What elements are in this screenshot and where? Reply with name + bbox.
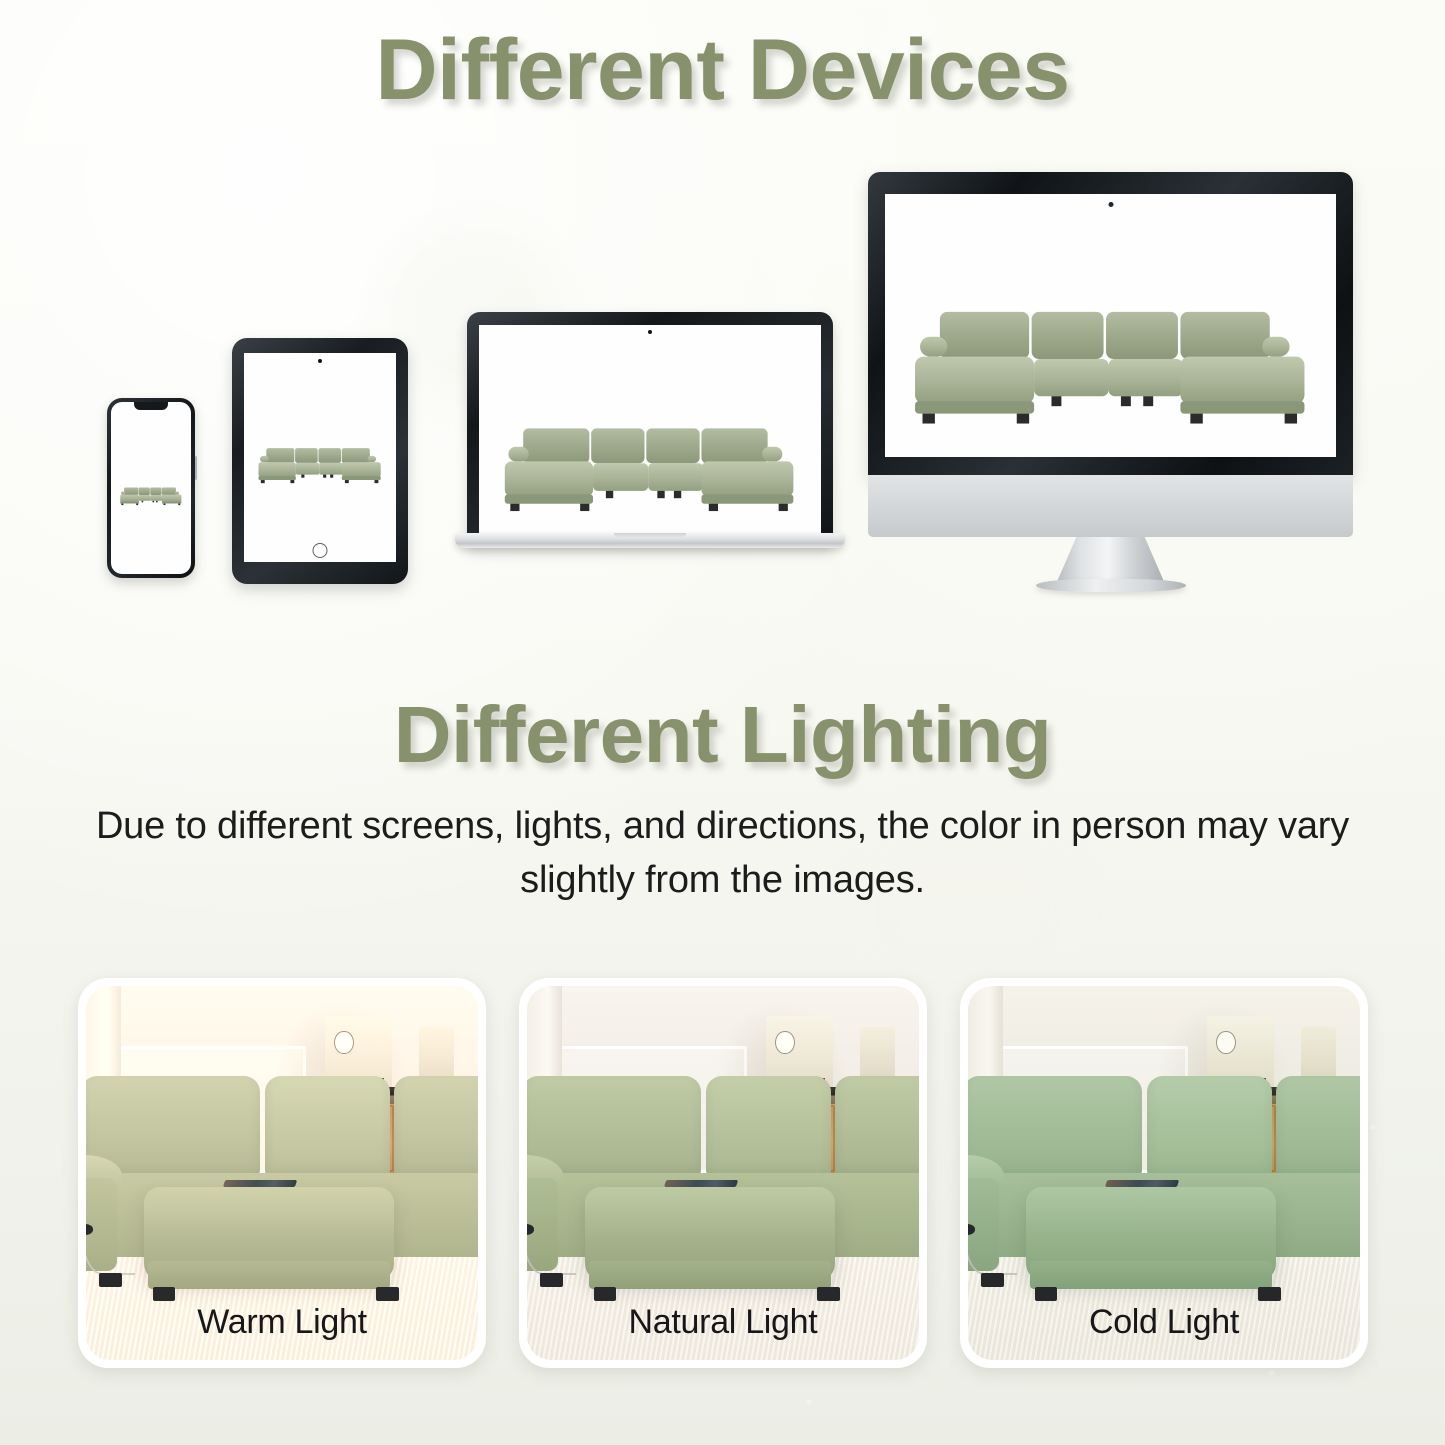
sofa-image-laptop bbox=[503, 421, 797, 520]
disclaimer-text: Due to different screens, lights, and di… bbox=[58, 800, 1388, 908]
laptop-screen bbox=[479, 325, 821, 536]
device-mockups-row bbox=[0, 160, 1445, 630]
monitor-chin bbox=[868, 475, 1353, 537]
tablet-mockup bbox=[232, 338, 408, 584]
lighting-label-cold: Cold Light bbox=[968, 1303, 1360, 1342]
sofa-leg bbox=[1258, 1287, 1280, 1301]
lighting-photo-natural: Natural Light bbox=[527, 986, 919, 1360]
remote-control[interactable] bbox=[223, 1180, 297, 1187]
back-cushion bbox=[265, 1076, 390, 1178]
sofa-leg bbox=[1035, 1287, 1057, 1301]
lighting-label-natural: Natural Light bbox=[527, 1303, 919, 1342]
lighting-cards-row: Warm Light bbox=[78, 978, 1368, 1368]
sofa-leg bbox=[594, 1287, 616, 1301]
phone-screen bbox=[111, 402, 191, 574]
sofa-in-room bbox=[527, 1076, 919, 1308]
lighting-card-warm[interactable]: Warm Light bbox=[78, 978, 486, 1368]
back-cushion bbox=[394, 1076, 478, 1178]
page-title-lighting: Different Lighting bbox=[0, 692, 1445, 778]
ottoman-base bbox=[148, 1261, 389, 1289]
sofa-leg bbox=[540, 1273, 562, 1287]
back-cushion bbox=[1276, 1076, 1360, 1178]
tablet-screen bbox=[244, 353, 396, 562]
phone-side-button[interactable] bbox=[195, 456, 197, 480]
sofa-leg bbox=[153, 1287, 175, 1301]
laptop-mockup bbox=[455, 312, 845, 562]
back-cushion bbox=[706, 1076, 831, 1178]
laptop-camera-icon bbox=[648, 330, 652, 334]
monitor-mockup bbox=[868, 172, 1353, 592]
ottoman-base bbox=[589, 1261, 830, 1289]
tablet-home-button[interactable] bbox=[313, 543, 328, 558]
sofa-leg bbox=[99, 1273, 121, 1287]
remote-control[interactable] bbox=[664, 1180, 738, 1187]
lighting-card-natural[interactable]: Natural Light bbox=[519, 978, 927, 1368]
laptop-base bbox=[455, 533, 845, 548]
sofa-in-room bbox=[86, 1076, 478, 1308]
lighting-card-cold[interactable]: Cold Light bbox=[960, 978, 1368, 1368]
lighting-label-warm: Warm Light bbox=[86, 1303, 478, 1342]
monitor-screen bbox=[885, 194, 1336, 457]
monitor-stand-neck bbox=[1056, 537, 1166, 585]
lighting-photo-warm: Warm Light bbox=[86, 986, 478, 1360]
remote-control[interactable] bbox=[1105, 1180, 1179, 1187]
ottoman-base bbox=[1030, 1261, 1271, 1289]
tablet-camera-icon bbox=[318, 359, 322, 363]
power-cable bbox=[86, 1169, 135, 1276]
back-cushion bbox=[1147, 1076, 1272, 1178]
sofa-in-room bbox=[968, 1076, 1360, 1308]
sofa-leg bbox=[817, 1287, 839, 1301]
sofa-image-tablet bbox=[258, 445, 383, 487]
lighting-photo-cold: Cold Light bbox=[968, 986, 1360, 1360]
phone-notch-icon bbox=[134, 402, 168, 410]
monitor-stand-foot bbox=[1036, 579, 1186, 592]
sofa-image-phone bbox=[120, 486, 182, 507]
phone-mockup bbox=[107, 398, 195, 578]
monitor-bezel bbox=[868, 172, 1353, 475]
laptop-lid bbox=[467, 312, 833, 548]
power-cable bbox=[527, 1169, 576, 1276]
page-title-devices: Different Devices bbox=[0, 24, 1445, 117]
power-cable bbox=[968, 1169, 1017, 1276]
monitor-camera-icon bbox=[1108, 202, 1113, 207]
sofa-leg bbox=[376, 1287, 398, 1301]
back-cushion bbox=[835, 1076, 919, 1178]
sofa-image-monitor bbox=[912, 302, 1309, 436]
sofa-leg bbox=[981, 1273, 1003, 1287]
